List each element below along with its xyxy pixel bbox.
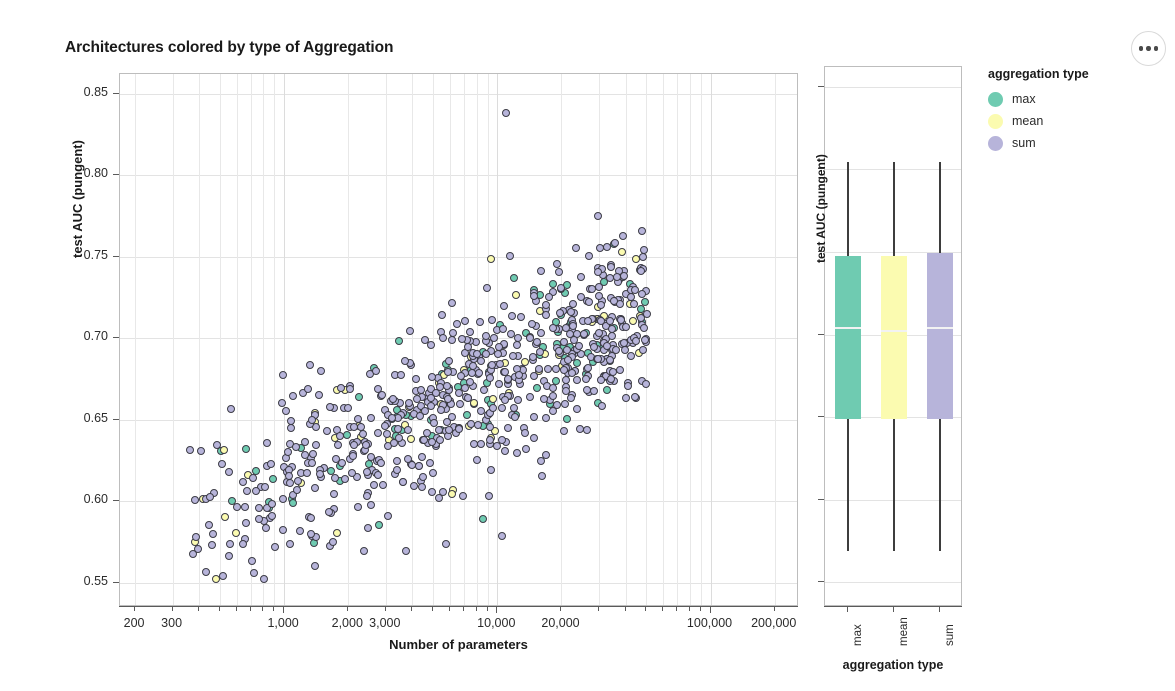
scatter-point[interactable] <box>332 455 340 463</box>
scatter-point[interactable] <box>549 407 557 415</box>
scatter-point[interactable] <box>417 386 425 394</box>
box-body[interactable] <box>835 256 861 419</box>
scatter-point[interactable] <box>202 568 210 576</box>
scatter-point[interactable] <box>307 530 315 538</box>
scatter-point[interactable] <box>393 457 401 465</box>
scatter-point[interactable] <box>530 292 538 300</box>
scatter-point[interactable] <box>242 519 250 527</box>
scatter-point[interactable] <box>493 442 501 450</box>
scatter-point[interactable] <box>514 396 522 404</box>
scatter-point[interactable] <box>584 317 592 325</box>
scatter-point[interactable] <box>289 392 297 400</box>
scatter-point[interactable] <box>597 376 605 384</box>
scatter-point[interactable] <box>466 378 474 386</box>
scatter-point[interactable] <box>289 499 297 507</box>
scatter-point[interactable] <box>233 503 241 511</box>
scatter-point[interactable] <box>243 487 251 495</box>
scatter-point[interactable] <box>595 292 603 300</box>
scatter-point[interactable] <box>477 440 485 448</box>
scatter-point[interactable] <box>537 329 545 337</box>
scatter-point[interactable] <box>316 470 324 478</box>
scatter-point[interactable] <box>640 324 648 332</box>
scatter-point[interactable] <box>508 312 516 320</box>
scatter-point[interactable] <box>530 413 538 421</box>
scatter-point[interactable] <box>542 414 550 422</box>
scatter-point[interactable] <box>439 334 447 342</box>
scatter-point[interactable] <box>394 425 402 433</box>
scatter-point[interactable] <box>562 387 570 395</box>
scatter-point[interactable] <box>513 449 521 457</box>
scatter-point[interactable] <box>262 524 270 532</box>
scatter-point[interactable] <box>381 422 389 430</box>
scatter-point[interactable] <box>638 290 646 298</box>
scatter-point[interactable] <box>192 533 200 541</box>
scatter-point[interactable] <box>488 316 496 324</box>
scatter-point[interactable] <box>255 504 263 512</box>
scatter-point[interactable] <box>375 521 383 529</box>
scatter-point[interactable] <box>549 384 557 392</box>
scatter-point[interactable] <box>510 274 518 282</box>
scatter-point[interactable] <box>311 562 319 570</box>
scatter-point[interactable] <box>239 478 247 486</box>
scatter-point[interactable] <box>336 432 344 440</box>
scatter-point[interactable] <box>301 451 309 459</box>
scatter-point[interactable] <box>255 515 263 523</box>
scatter-point[interactable] <box>639 346 647 354</box>
scatter-point[interactable] <box>326 403 334 411</box>
scatter-point[interactable] <box>567 308 575 316</box>
scatter-point[interactable] <box>242 445 250 453</box>
scatter-point[interactable] <box>487 466 495 474</box>
legend-item-mean[interactable]: mean <box>988 110 1158 132</box>
scatter-point[interactable] <box>512 291 520 299</box>
scatter-point[interactable] <box>576 425 584 433</box>
scatter-point[interactable] <box>585 252 593 260</box>
scatter-point[interactable] <box>412 375 420 383</box>
scatter-point[interactable] <box>489 395 497 403</box>
scatter-point[interactable] <box>533 384 541 392</box>
scatter-point[interactable] <box>622 323 630 331</box>
scatter-point[interactable] <box>569 300 577 308</box>
scatter-point[interactable] <box>533 338 541 346</box>
scatter-point[interactable] <box>426 459 434 467</box>
scatter-point[interactable] <box>443 382 451 390</box>
scatter-point[interactable] <box>399 478 407 486</box>
scatter-point[interactable] <box>374 429 382 437</box>
scatter-point[interactable] <box>590 343 598 351</box>
scatter-point[interactable] <box>595 329 603 337</box>
scatter-point[interactable] <box>606 317 614 325</box>
scatter-point[interactable] <box>486 436 494 444</box>
scatter-point[interactable] <box>325 508 333 516</box>
scatter-point[interactable] <box>205 521 213 529</box>
scatter-point[interactable] <box>239 540 247 548</box>
scatter-point[interactable] <box>427 394 435 402</box>
scatter-point[interactable] <box>444 395 452 403</box>
scatter-point[interactable] <box>457 372 465 380</box>
scatter-point[interactable] <box>584 364 592 372</box>
scatter-point[interactable] <box>509 352 517 360</box>
scatter-point[interactable] <box>480 386 488 394</box>
scatter-point[interactable] <box>331 474 339 482</box>
scatter-point[interactable] <box>613 273 621 281</box>
scatter-point[interactable] <box>379 481 387 489</box>
scatter-point[interactable] <box>582 375 590 383</box>
scatter-point[interactable] <box>502 109 510 117</box>
more-options-button[interactable] <box>1131 31 1166 66</box>
scatter-point[interactable] <box>474 421 482 429</box>
scatter-point[interactable] <box>464 394 472 402</box>
scatter-point[interactable] <box>341 475 349 483</box>
scatter-point[interactable] <box>279 526 287 534</box>
scatter-point[interactable] <box>286 540 294 548</box>
scatter-point[interactable] <box>384 512 392 520</box>
scatter-point[interactable] <box>357 423 365 431</box>
scatter-point[interactable] <box>466 328 474 336</box>
scatter-point[interactable] <box>406 327 414 335</box>
scatter-point[interactable] <box>556 309 564 317</box>
scatter-point[interactable] <box>488 361 496 369</box>
scatter-point[interactable] <box>544 365 552 373</box>
scatter-point[interactable] <box>610 297 618 305</box>
scatter-point[interactable] <box>573 376 581 384</box>
scatter-point[interactable] <box>496 360 504 368</box>
scatter-point[interactable] <box>482 350 490 358</box>
scatter-point[interactable] <box>603 342 611 350</box>
scatter-point[interactable] <box>401 357 409 365</box>
scatter-point[interactable] <box>521 429 529 437</box>
scatter-point[interactable] <box>232 529 240 537</box>
scatter-point[interactable] <box>463 411 471 419</box>
scatter-point[interactable] <box>459 492 467 500</box>
scatter-point[interactable] <box>317 367 325 375</box>
scatter-point[interactable] <box>643 310 651 318</box>
scatter-point[interactable] <box>526 393 534 401</box>
scatter-point[interactable] <box>458 335 466 343</box>
scatter-point[interactable] <box>545 293 553 301</box>
scatter-point[interactable] <box>637 267 645 275</box>
scatter-point[interactable] <box>249 474 257 482</box>
scatter-point[interactable] <box>263 439 271 447</box>
scatter-point[interactable] <box>536 348 544 356</box>
scatter-point[interactable] <box>552 365 560 373</box>
scatter-point[interactable] <box>227 405 235 413</box>
scatter-point[interactable] <box>374 385 382 393</box>
scatter-point[interactable] <box>437 406 445 414</box>
scatter-point[interactable] <box>517 313 525 321</box>
scatter-point[interactable] <box>479 515 487 523</box>
scatter-point[interactable] <box>418 483 426 491</box>
scatter-point[interactable] <box>296 527 304 535</box>
scatter-point[interactable] <box>557 284 565 292</box>
scatter-point[interactable] <box>473 456 481 464</box>
scatter-point[interactable] <box>309 450 317 458</box>
scatter-point[interactable] <box>540 395 548 403</box>
scatter-point[interactable] <box>603 386 611 394</box>
scatter-point[interactable] <box>511 413 519 421</box>
scatter-point[interactable] <box>639 253 647 261</box>
scatter-point[interactable] <box>408 461 416 469</box>
scatter-point[interactable] <box>226 540 234 548</box>
scatter-point[interactable] <box>448 299 456 307</box>
scatter-point[interactable] <box>397 371 405 379</box>
scatter-point[interactable] <box>564 356 572 364</box>
scatter-point[interactable] <box>619 232 627 240</box>
scatter-point[interactable] <box>186 446 194 454</box>
scatter-point[interactable] <box>370 481 378 489</box>
scatter-point[interactable] <box>307 514 315 522</box>
scatter-point[interactable] <box>529 353 537 361</box>
scatter-point[interactable] <box>476 318 484 326</box>
scatter-point[interactable] <box>607 263 615 271</box>
scatter-point[interactable] <box>607 375 615 383</box>
scatter-point[interactable] <box>267 460 275 468</box>
scatter-point[interactable] <box>337 384 345 392</box>
scatter-point[interactable] <box>346 385 354 393</box>
scatter-point[interactable] <box>312 441 320 449</box>
scatter-point[interactable] <box>209 530 217 538</box>
scatter-point[interactable] <box>315 391 323 399</box>
scatter-point[interactable] <box>252 487 260 495</box>
scatter-point[interactable] <box>304 385 312 393</box>
scatter-point[interactable] <box>278 399 286 407</box>
scatter-point[interactable] <box>206 493 214 501</box>
scatter-point[interactable] <box>455 389 463 397</box>
scatter-point[interactable] <box>250 569 258 577</box>
scatter-point[interactable] <box>568 369 576 377</box>
scatter-point[interactable] <box>285 472 293 480</box>
scatter-point[interactable] <box>390 439 398 447</box>
scatter-point[interactable] <box>504 375 512 383</box>
scatter-point[interactable] <box>448 490 456 498</box>
scatter-point[interactable] <box>627 352 635 360</box>
scatter-point[interactable] <box>580 330 588 338</box>
scatter-point[interactable] <box>354 503 362 511</box>
scatter-point[interactable] <box>286 479 294 487</box>
scatter-point[interactable] <box>555 347 563 355</box>
scatter-point[interactable] <box>482 332 490 340</box>
scatter-point[interactable] <box>495 380 503 388</box>
scatter-point[interactable] <box>486 423 494 431</box>
scatter-point[interactable] <box>456 400 464 408</box>
scatter-point[interactable] <box>360 547 368 555</box>
scatter-point[interactable] <box>632 337 640 345</box>
scatter-point[interactable] <box>343 431 351 439</box>
scatter-point[interactable] <box>418 453 426 461</box>
scatter-point[interactable] <box>596 244 604 252</box>
scatter-point[interactable] <box>577 273 585 281</box>
scatter-point[interactable] <box>388 414 396 422</box>
scatter-point[interactable] <box>473 350 481 358</box>
scatter-point[interactable] <box>560 338 568 346</box>
scatter-point[interactable] <box>445 357 453 365</box>
scatter-point[interactable] <box>620 339 628 347</box>
scatter-point[interactable] <box>402 547 410 555</box>
scatter-plot-panel[interactable] <box>119 73 798 606</box>
scatter-point[interactable] <box>606 356 614 364</box>
scatter-point[interactable] <box>241 503 249 511</box>
scatter-point[interactable] <box>348 469 356 477</box>
scatter-point[interactable] <box>549 324 557 332</box>
scatter-point[interactable] <box>301 438 309 446</box>
scatter-point[interactable] <box>577 293 585 301</box>
scatter-point[interactable] <box>428 373 436 381</box>
scatter-point[interactable] <box>642 380 650 388</box>
scatter-point[interactable] <box>569 322 577 330</box>
scatter-point[interactable] <box>413 395 421 403</box>
scatter-point[interactable] <box>572 244 580 252</box>
scatter-point[interactable] <box>535 365 543 373</box>
scatter-point[interactable] <box>438 311 446 319</box>
scatter-point[interactable] <box>364 524 372 532</box>
scatter-point[interactable] <box>374 471 382 479</box>
scatter-point[interactable] <box>638 227 646 235</box>
scatter-point[interactable] <box>498 404 506 412</box>
scatter-point[interactable] <box>470 440 478 448</box>
scatter-point[interactable] <box>225 552 233 560</box>
scatter-point[interactable] <box>553 260 561 268</box>
scatter-point[interactable] <box>444 368 452 376</box>
scatter-point[interactable] <box>197 447 205 455</box>
scatter-point[interactable] <box>308 416 316 424</box>
scatter-point[interactable] <box>329 538 337 546</box>
scatter-point[interactable] <box>514 334 522 342</box>
scatter-point[interactable] <box>641 336 649 344</box>
scatter-point[interactable] <box>560 366 568 374</box>
scatter-point[interactable] <box>494 350 502 358</box>
scatter-point[interactable] <box>405 399 413 407</box>
scatter-point[interactable] <box>428 438 436 446</box>
scatter-point[interactable] <box>590 387 598 395</box>
scatter-point[interactable] <box>483 284 491 292</box>
scatter-point[interactable] <box>618 248 626 256</box>
scatter-point[interactable] <box>367 453 375 461</box>
scatter-point[interactable] <box>499 325 507 333</box>
scatter-point[interactable] <box>279 495 287 503</box>
scatter-point[interactable] <box>594 212 602 220</box>
scatter-point[interactable] <box>489 404 497 412</box>
scatter-point[interactable] <box>442 540 450 548</box>
scatter-point[interactable] <box>191 496 199 504</box>
scatter-point[interactable] <box>194 545 202 553</box>
scatter-point[interactable] <box>407 435 415 443</box>
scatter-point[interactable] <box>294 477 302 485</box>
scatter-point[interactable] <box>467 420 475 428</box>
scatter-point[interactable] <box>498 532 506 540</box>
scatter-point[interactable] <box>542 451 550 459</box>
scatter-point[interactable] <box>225 468 233 476</box>
scatter-point[interactable] <box>436 436 444 444</box>
scatter-point[interactable] <box>303 469 311 477</box>
scatter-point[interactable] <box>344 404 352 412</box>
scatter-point[interactable] <box>323 427 331 435</box>
scatter-point[interactable] <box>515 371 523 379</box>
scatter-point[interactable] <box>428 488 436 496</box>
scatter-point[interactable] <box>271 543 279 551</box>
scatter-point[interactable] <box>537 267 545 275</box>
scatter-point[interactable] <box>282 407 290 415</box>
scatter-point[interactable] <box>410 482 418 490</box>
scatter-point[interactable] <box>333 529 341 537</box>
scatter-point[interactable] <box>439 488 447 496</box>
scatter-point[interactable] <box>510 404 518 412</box>
scatter-point[interactable] <box>308 459 316 467</box>
scatter-point[interactable] <box>526 334 534 342</box>
scatter-point[interactable] <box>631 286 639 294</box>
scatter-point[interactable] <box>260 575 268 583</box>
scatter-point[interactable] <box>608 325 616 333</box>
legend-item-sum[interactable]: sum <box>988 132 1158 154</box>
box-body[interactable] <box>927 253 953 419</box>
scatter-point[interactable] <box>631 393 639 401</box>
scatter-point[interactable] <box>612 346 620 354</box>
scatter-point[interactable] <box>560 427 568 435</box>
scatter-point[interactable] <box>501 396 509 404</box>
scatter-point[interactable] <box>585 298 593 306</box>
scatter-point[interactable] <box>208 541 216 549</box>
scatter-point[interactable] <box>218 460 226 468</box>
scatter-point[interactable] <box>349 452 357 460</box>
scatter-point[interactable] <box>501 447 509 455</box>
scatter-point[interactable] <box>363 492 371 500</box>
scatter-point[interactable] <box>598 402 606 410</box>
scatter-point[interactable] <box>443 418 451 426</box>
scatter-point[interactable] <box>504 424 512 432</box>
scatter-point[interactable] <box>221 513 229 521</box>
box-plot-panel[interactable] <box>824 66 962 606</box>
scatter-point[interactable] <box>594 355 602 363</box>
scatter-point[interactable] <box>630 300 638 308</box>
scatter-point[interactable] <box>395 337 403 345</box>
scatter-point[interactable] <box>624 382 632 390</box>
scatter-point[interactable] <box>423 429 431 437</box>
scatter-point[interactable] <box>522 445 530 453</box>
scatter-point[interactable] <box>268 500 276 508</box>
scatter-point[interactable] <box>597 317 605 325</box>
scatter-point[interactable] <box>377 459 385 467</box>
scatter-point[interactable] <box>389 395 397 403</box>
scatter-point[interactable] <box>359 430 367 438</box>
scatter-point[interactable] <box>421 407 429 415</box>
scatter-point[interactable] <box>455 425 463 433</box>
scatter-point[interactable] <box>429 469 437 477</box>
scatter-point[interactable] <box>570 336 578 344</box>
scatter-point[interactable] <box>311 484 319 492</box>
scatter-point[interactable] <box>293 486 301 494</box>
scatter-point[interactable] <box>219 572 227 580</box>
scatter-point[interactable] <box>594 268 602 276</box>
scatter-point[interactable] <box>485 492 493 500</box>
scatter-point[interactable] <box>367 414 375 422</box>
scatter-point[interactable] <box>261 483 269 491</box>
scatter-point[interactable] <box>287 417 295 425</box>
scatter-point[interactable] <box>435 426 443 434</box>
scatter-point[interactable] <box>213 441 221 449</box>
scatter-point[interactable] <box>383 430 391 438</box>
scatter-point[interactable] <box>393 466 401 474</box>
scatter-point[interactable] <box>461 317 469 325</box>
scatter-point[interactable] <box>419 473 427 481</box>
scatter-point[interactable] <box>555 268 563 276</box>
scatter-point[interactable] <box>563 415 571 423</box>
scatter-point[interactable] <box>542 301 550 309</box>
scatter-point[interactable] <box>538 472 546 480</box>
scatter-point[interactable] <box>269 475 277 483</box>
scatter-point[interactable] <box>334 441 342 449</box>
scatter-point[interactable] <box>372 367 380 375</box>
scatter-point[interactable] <box>528 320 536 328</box>
scatter-point[interactable] <box>449 329 457 337</box>
